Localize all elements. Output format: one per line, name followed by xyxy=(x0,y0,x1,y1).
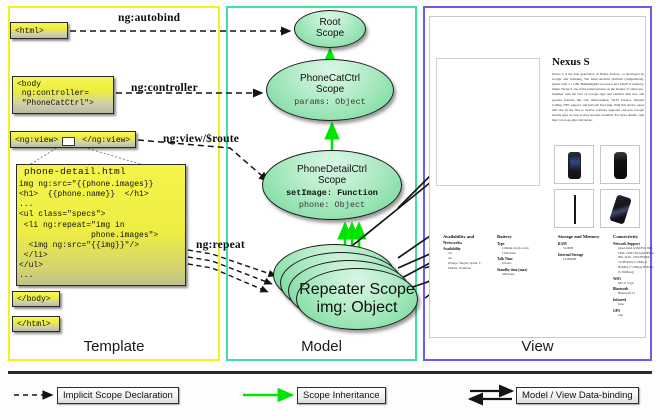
spec-value: 428 hours xyxy=(502,272,549,277)
thumbnail-phone-back[interactable] xyxy=(600,145,640,184)
label-ng-autobind: ng:autobind xyxy=(118,12,180,24)
scope-root-title-line1: Root xyxy=(295,17,365,28)
spec-value: false xyxy=(618,302,657,307)
spec-heading: Battery xyxy=(497,234,549,240)
spec-column-battery: Battery Type Lithium Ion (Li-Ion) 1500 m… xyxy=(497,234,549,277)
spec-value: 512MB xyxy=(563,246,616,251)
phone-front-icon xyxy=(568,152,581,179)
spec-value: 802.11 b/g/n xyxy=(618,281,657,286)
panel-label-model: Model xyxy=(226,338,417,416)
phone-back-icon xyxy=(614,152,627,179)
product-description: Nexus S is the next generation of Nexus … xyxy=(552,72,644,123)
sticky-note-code: img ng:src="{{phone.images}} <h1> {{phon… xyxy=(19,180,185,282)
spec-value: Quad-band GSM 850, 900, 1800, 1900 (Tri-… xyxy=(618,246,657,275)
legend-item-implicit-scope-declaration: Implicit Scope Declaration xyxy=(57,387,179,404)
scope-root[interactable]: Root Scope xyxy=(294,10,366,48)
thumbnail-phone-angled[interactable] xyxy=(600,189,640,228)
thumbnail-phone-front[interactable] xyxy=(554,145,594,184)
label-ng-repeat: ng:repeat xyxy=(196,239,245,251)
scope-repeater-prop-img: img: Object xyxy=(317,299,398,316)
phone-edge-icon xyxy=(574,195,576,224)
code-box-body-open[interactable]: <body ng:controller= "PhoneCatCtrl"> xyxy=(12,76,114,114)
spec-column-storage: Storage and Memory RAM 512MB Internal St… xyxy=(558,234,616,261)
spec-heading: Storage and Memory xyxy=(558,234,616,240)
spec-value: 1500 mAh xyxy=(502,251,549,256)
phone-angled-icon xyxy=(609,194,632,224)
scope-repeater-title-line1: Repeater xyxy=(299,281,365,298)
spec-heading: Availability and Networks xyxy=(443,234,489,245)
thumbnail-phone-edge[interactable] xyxy=(554,189,594,228)
code-box-body-close[interactable]: </body> xyxy=(12,291,60,307)
scope-phonecatctrl[interactable]: PhoneCatCtrl Scope params: Object xyxy=(266,59,394,121)
spec-value: true xyxy=(618,313,657,318)
sticky-note-title: phone-detail.html xyxy=(24,166,126,177)
label-ng-controller: ng:controller xyxy=(131,82,198,94)
scope-phonedetailctrl[interactable]: PhoneDetailCtrl Scope setImage: Function… xyxy=(262,150,402,220)
scope-phonedetailctrl-prop-phone: phone: Object xyxy=(263,200,401,210)
panel-label-view: View xyxy=(423,338,652,416)
scope-phonecatctrl-title-line1: PhoneCatCtrl xyxy=(267,73,393,84)
scope-repeater[interactable]: Repeater Scope img: Object xyxy=(296,268,418,330)
panel-label-template: Template xyxy=(8,338,220,416)
phone-hero-image-frame[interactable] xyxy=(436,58,540,186)
legend-item-model-view-data-binding: Model / View Data-binding xyxy=(516,387,639,404)
diagram-canvas: <html> <body ng:controller= "PhoneCatCtr… xyxy=(0,0,660,420)
ng-view-slot-icon xyxy=(62,137,75,146)
spec-value: 16384MB xyxy=(563,257,616,262)
spec-value: 6 hours xyxy=(502,261,549,266)
scope-phonecatctrl-title-line2: Scope xyxy=(267,84,393,95)
scope-repeater-title-line2: Scope xyxy=(369,281,414,298)
legend-divider xyxy=(8,371,652,374)
spec-value: Orange, Singtel, Sprint, T-Mobile, Vodaf… xyxy=(448,261,489,271)
label-ng-view-route: ng:view/$route xyxy=(163,133,239,145)
spec-column-connectivity: Connectivity Network Support Quad-band G… xyxy=(613,234,657,318)
scope-phonecatctrl-prop-params: params: Object xyxy=(267,97,393,107)
scope-root-title-line2: Scope xyxy=(295,28,365,39)
spec-value: Bluetooth 2.1 xyxy=(618,291,657,296)
scope-phonedetailctrl-title-line1: PhoneDetailCtrl xyxy=(263,164,401,175)
spec-column-availability: Availability and Networks Availability 3… xyxy=(443,234,489,271)
product-title: Nexus S xyxy=(552,56,590,68)
scope-phonedetailctrl-title-line2: Scope xyxy=(263,175,401,186)
code-box-html-open[interactable]: <html> xyxy=(10,22,68,39)
legend-item-scope-inheritance: Scope Inheritance xyxy=(297,387,386,404)
code-box-html-close[interactable]: </html> xyxy=(12,316,60,332)
scope-phonedetailctrl-prop-setimage: setImage: Function xyxy=(263,188,401,198)
spec-heading: Connectivity xyxy=(613,234,657,240)
